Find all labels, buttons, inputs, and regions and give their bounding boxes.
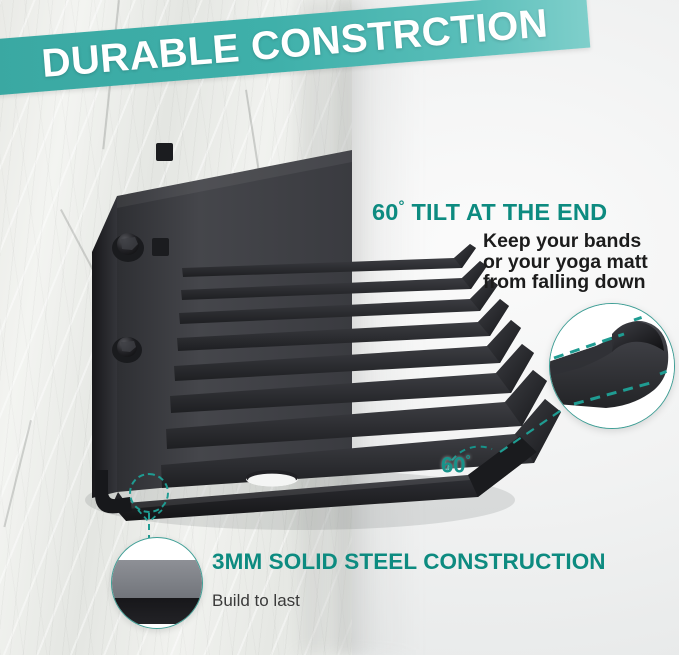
angle-label: 60° (441, 452, 471, 478)
steel-heading: 3MM SOLID STEEL CONSTRUCTION (212, 549, 606, 575)
steel-body-text: Build to last (212, 591, 300, 611)
mount-tab (152, 238, 169, 256)
tilt-body-text: Keep your bands or your yoga matt from f… (483, 231, 648, 293)
steel-edge-thickness (112, 598, 202, 624)
steel-upper-face (112, 560, 202, 598)
tip-zoom-callout (549, 303, 675, 429)
angle-label-value: 60 (441, 452, 465, 477)
infographic-canvas: 60° (0, 0, 679, 655)
angle-label-degree: ° (465, 452, 470, 467)
tilt-heading-value: 60 (372, 199, 399, 225)
tilt-heading-rest: TILT AT THE END (405, 199, 608, 225)
steel-zoom-callout (111, 537, 203, 629)
tilt-body-line-3: from falling down (483, 272, 648, 293)
tilt-body-line-2: or your yoga matt (483, 252, 648, 273)
tilt-heading: 60° TILT AT THE END (372, 198, 607, 226)
tip-zoom-illustration (550, 304, 675, 429)
dashed-circle-marker-icon (129, 473, 169, 513)
mount-tab (156, 143, 173, 161)
tilt-body-line-1: Keep your bands (483, 231, 648, 252)
